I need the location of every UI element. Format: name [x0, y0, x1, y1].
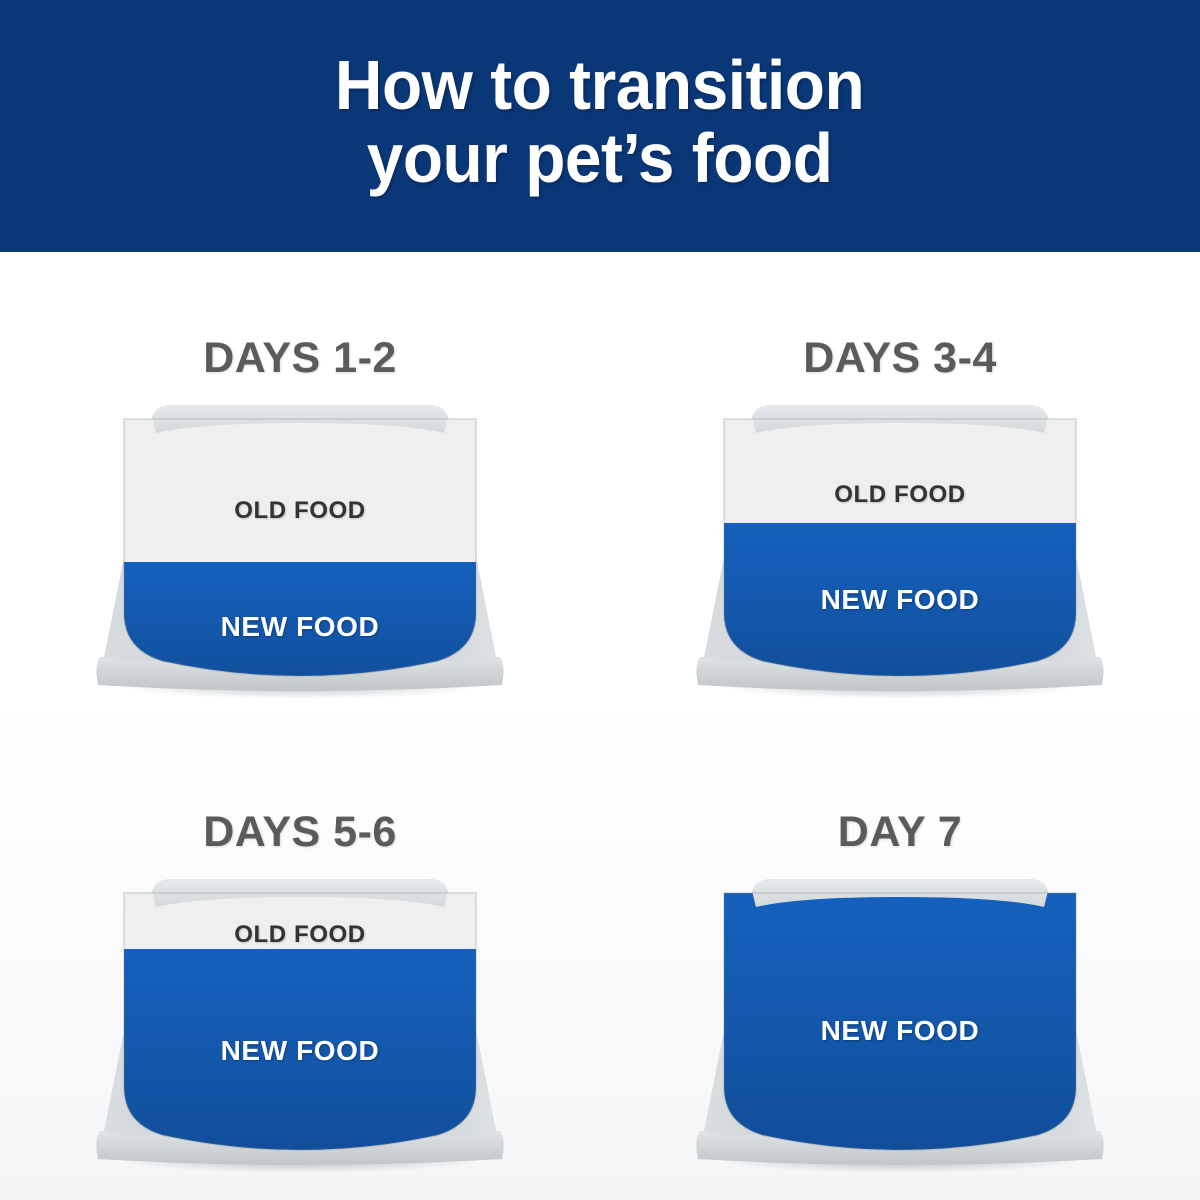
stage-title-days-1-2: DAYS 1-2	[203, 334, 397, 383]
bowl-day-7: NEW FOOD	[660, 873, 1140, 1183]
bowl-illustration	[660, 873, 1140, 1183]
stage-card-days-1-2[interactable]: DAYS 1-2	[0, 252, 600, 726]
stage-title-day-7: DAY 7	[838, 808, 962, 857]
stage-card-days-5-6[interactable]: DAYS 5-6	[0, 726, 600, 1200]
bowl-illustration	[60, 399, 540, 709]
infographic-page: How to transition your pet’s food DAYS 1…	[0, 0, 1200, 1200]
stage-card-day-7[interactable]: DAY 7	[600, 726, 1200, 1200]
header-banner: How to transition your pet’s food	[0, 0, 1200, 252]
new-food-fill	[724, 893, 1076, 1177]
bowl-illustration	[660, 399, 1140, 709]
stages-grid: DAYS 1-2	[0, 252, 1200, 1200]
bowl-days-1-2: OLD FOOD NEW FOOD	[60, 399, 540, 709]
bowl-days-3-4: OLD FOOD NEW FOOD	[660, 399, 1140, 709]
stage-card-days-3-4[interactable]: DAYS 3-4	[600, 252, 1200, 726]
bowl-days-5-6: OLD FOOD NEW FOOD	[60, 873, 540, 1183]
bowl-illustration	[60, 873, 540, 1183]
page-title: How to transition your pet’s food	[335, 49, 864, 195]
stage-title-days-3-4: DAYS 3-4	[803, 334, 997, 383]
stage-title-days-5-6: DAYS 5-6	[203, 808, 397, 857]
